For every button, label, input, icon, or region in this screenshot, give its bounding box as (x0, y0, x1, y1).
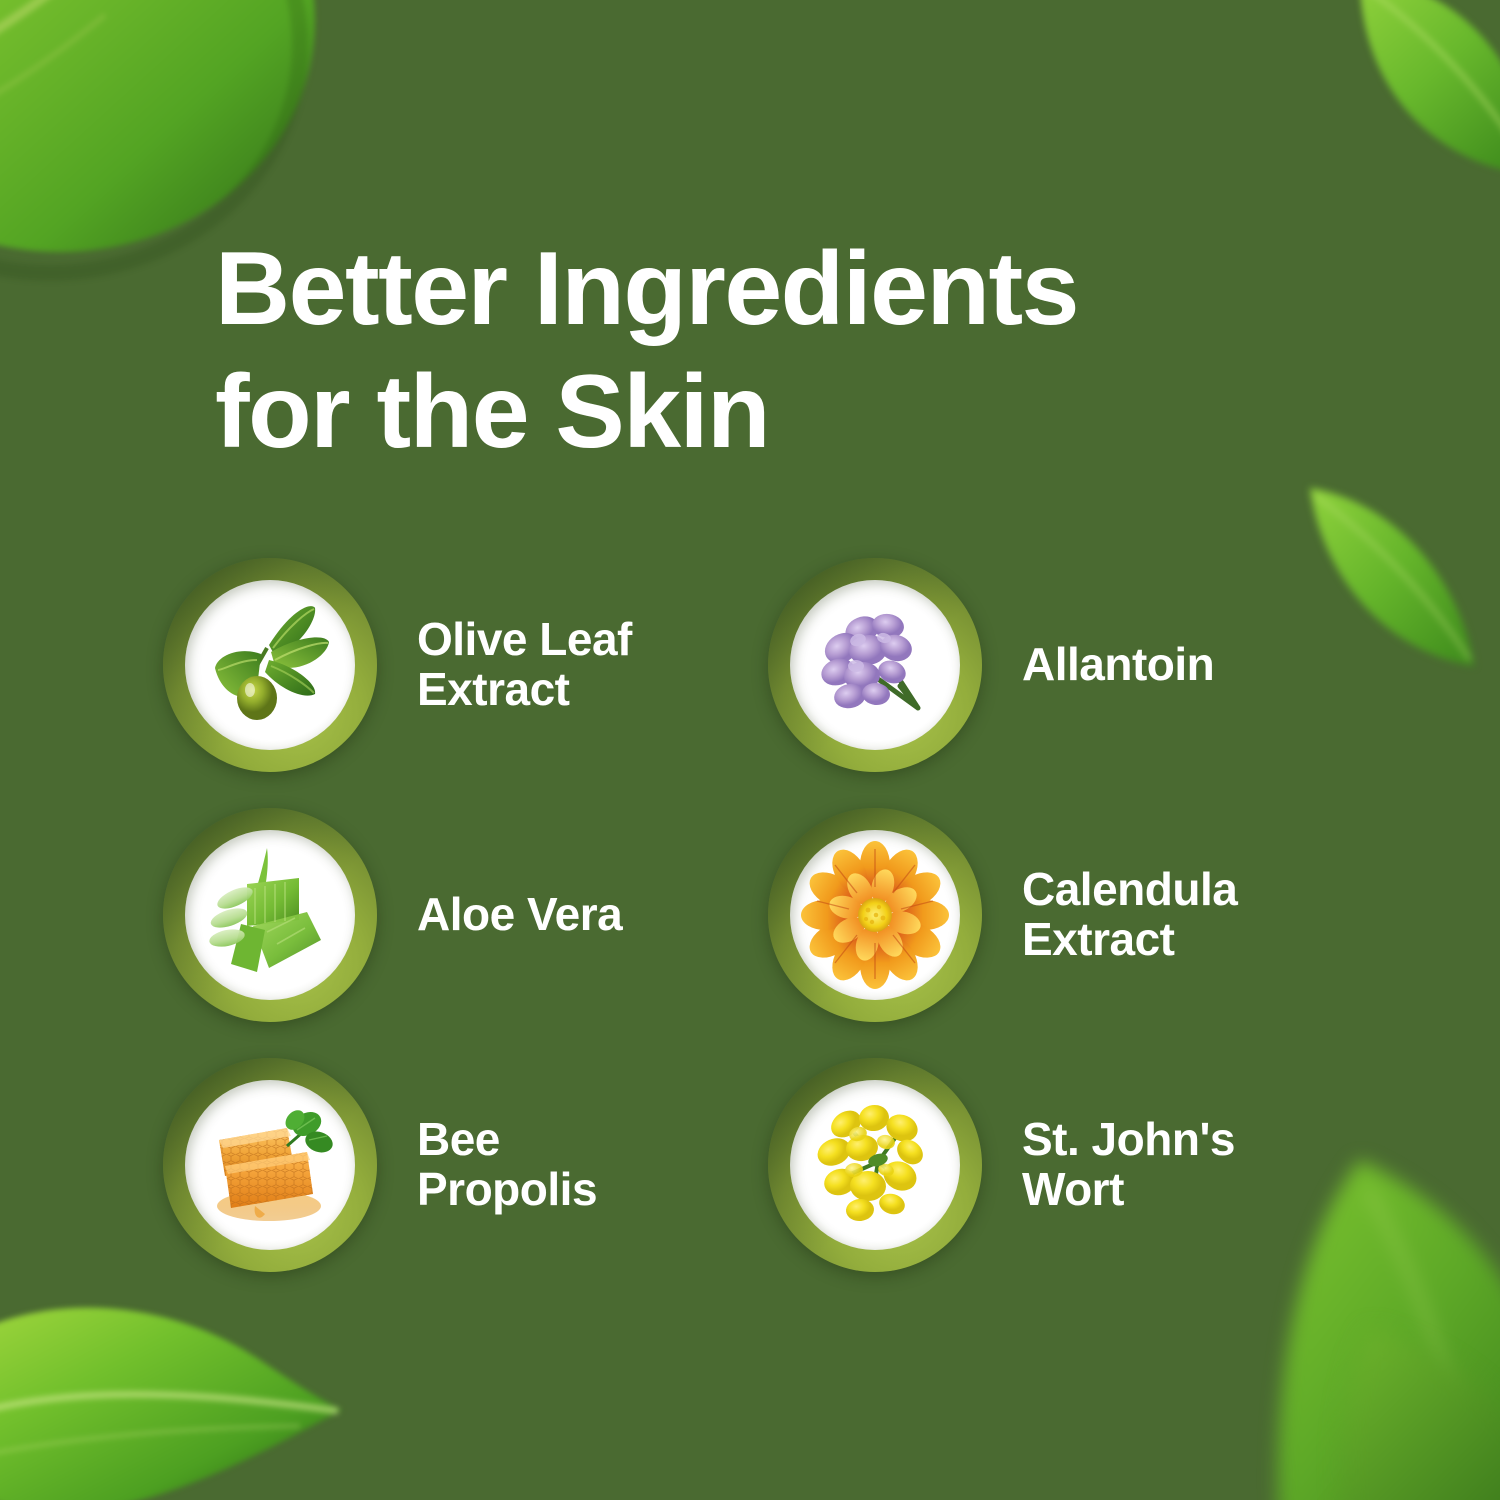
ingredient-badge (163, 808, 377, 1022)
leaf-bottom-left-icon (0, 1268, 360, 1500)
ingredient-item-olive-leaf-extract: Olive Leaf Extract (163, 540, 738, 790)
ingredient-item-allantoin: Allantoin (768, 540, 1343, 790)
leaf-bottom-right-small-icon (1330, 1300, 1500, 1500)
ingredient-item-calendula-extract: Calendula Extract (768, 790, 1343, 1040)
olive-branch-icon (185, 580, 355, 750)
ingredient-item-st-johns-wort: St. John's Wort (768, 1040, 1343, 1290)
ingredients-poster: Better Ingredients for the Skin (0, 0, 1500, 1500)
marigold-flower-icon (790, 830, 960, 1000)
ingredient-badge (768, 808, 982, 1022)
leaf-top-right-icon (1318, 0, 1500, 220)
ingredient-label: Olive Leaf Extract (417, 615, 632, 714)
ingredient-label: Aloe Vera (417, 890, 622, 940)
ingredient-badge (768, 1058, 982, 1272)
ingredient-label: St. John's Wort (1022, 1115, 1235, 1214)
aloe-leaf-icon (185, 830, 355, 1000)
ingredient-badge (768, 558, 982, 772)
ingredient-item-aloe-vera: Aloe Vera (163, 790, 738, 1040)
ingredient-label: Calendula Extract (1022, 865, 1237, 964)
ingredient-label: Allantoin (1022, 640, 1214, 690)
ingredient-grid: Olive Leaf Extract (163, 540, 1343, 1290)
ingredient-item-bee-propolis: Bee Propolis (163, 1040, 738, 1290)
ingredient-badge (163, 1058, 377, 1272)
yellow-flower-icon (790, 1080, 960, 1250)
comfrey-flower-icon (790, 580, 960, 750)
ingredient-label: Bee Propolis (417, 1115, 597, 1214)
page-title: Better Ingredients for the Skin (215, 228, 1215, 473)
honeycomb-icon (185, 1080, 355, 1250)
ingredient-badge (163, 558, 377, 772)
